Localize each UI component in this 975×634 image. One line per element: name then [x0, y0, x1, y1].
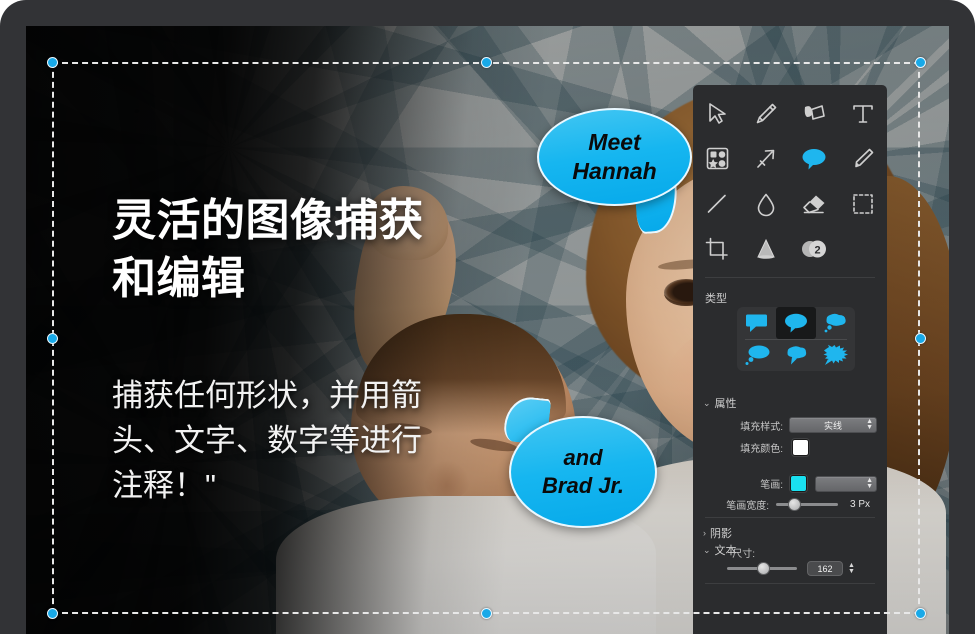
callout-hannah-line2: Hannah	[572, 157, 656, 186]
panel-divider-2	[705, 517, 875, 518]
pencil-icon	[753, 101, 779, 127]
bubble-type-cloud-dots[interactable]	[816, 307, 855, 339]
stroke-width-label: 笔画宽度:	[713, 497, 769, 512]
highlighter-tool[interactable]	[839, 136, 888, 181]
text-size-row: 尺寸: 162 ▲▼	[721, 561, 887, 576]
stroke-color-swatch[interactable]	[790, 475, 807, 492]
bubble-type-oval-dots[interactable]	[737, 339, 776, 371]
panel-divider-1	[705, 277, 875, 278]
cursor-arrow-icon	[706, 102, 728, 126]
properties-section-header[interactable]: ⌄ 属性	[703, 395, 737, 411]
cone-icon	[753, 236, 779, 262]
device-bezel: 灵活的图像捕获和编辑 捕获任何形状，并用箭头、文字、数字等进行注释！" Meet…	[0, 0, 975, 634]
crop-icon	[704, 236, 730, 262]
selection-handle-middle-right[interactable]	[915, 333, 926, 344]
step-number-2-icon: 2	[799, 237, 829, 261]
chevron-down-icon: ⌄	[703, 545, 711, 556]
dashed-rect-icon	[851, 192, 875, 216]
selection-handle-bottom-right[interactable]	[915, 608, 926, 619]
fill-color-row: 填充颜色:	[721, 439, 879, 456]
selection-handle-bottom-left[interactable]	[47, 608, 58, 619]
shadow-section-label: 阴影	[710, 525, 732, 541]
annotation-tool-panel[interactable]: 2 类型	[693, 85, 887, 634]
selection-handle-bottom-center[interactable]	[481, 608, 492, 619]
fill-style-value: 实线	[824, 419, 842, 432]
bubble-cloud-dots-icon	[821, 312, 849, 334]
step-number-badge: 2	[815, 244, 821, 256]
selection-handle-top-left[interactable]	[47, 57, 58, 68]
slider-knob[interactable]	[788, 498, 801, 511]
bubble-rect-tail-icon	[743, 312, 771, 334]
speech-bubble-icon	[800, 147, 828, 171]
chevron-right-icon: ›	[703, 528, 706, 538]
callout-bubble-hannah[interactable]: Meet Hannah	[537, 108, 692, 206]
stroke-row: 笔画: ▲▼	[721, 475, 879, 492]
fill-color-label: 填充颜色:	[721, 440, 783, 455]
bubble-type-oval-tail[interactable]	[776, 307, 815, 339]
stroke-width-slider[interactable]	[776, 498, 838, 512]
callout-brad-line2: Brad Jr.	[542, 472, 624, 500]
chevron-down-icon: ⌄	[703, 398, 711, 409]
slider-track	[776, 503, 838, 506]
crop-tool[interactable]	[693, 226, 742, 271]
arrow-up-right-icon	[753, 146, 779, 172]
selection-handle-top-center[interactable]	[481, 57, 492, 68]
tool-grid: 2	[693, 91, 887, 271]
text-size-label: 尺寸:	[721, 545, 755, 560]
bubble-burst-icon	[821, 344, 849, 366]
slide-body-text: 捕获任何形状，并用箭头、文字、数字等进行注释！"	[112, 374, 438, 509]
arrow-tool[interactable]	[742, 136, 791, 181]
bubble-oval-dots-icon	[743, 344, 771, 366]
stamp-tool[interactable]	[790, 91, 839, 136]
properties-section-label: 属性	[715, 395, 737, 411]
stepper-icon: ▲▼	[866, 478, 873, 490]
slide-headline: 灵活的图像捕获和编辑	[112, 192, 442, 308]
bubble-oval-tail-icon	[782, 312, 810, 334]
bubble-type-rect-tail[interactable]	[737, 307, 776, 339]
callout-tool[interactable]	[790, 136, 839, 181]
shadow-section-header[interactable]: › 阴影	[703, 525, 732, 541]
text-size-stepper[interactable]: ▲▼	[848, 563, 855, 575]
selection-handle-top-right[interactable]	[915, 57, 926, 68]
stepper-icon: ▲▼	[866, 419, 873, 431]
blur-tool[interactable]	[742, 181, 791, 226]
step-number-tool[interactable]: 2	[790, 226, 839, 271]
bubble-cloud-tail-icon	[782, 344, 810, 366]
text-t-icon	[850, 101, 876, 127]
bubble-type-burst[interactable]	[816, 339, 855, 371]
fill-color-swatch[interactable]	[792, 439, 809, 456]
eraser-tool[interactable]	[790, 181, 839, 226]
pencil-tool[interactable]	[742, 91, 791, 136]
stroke-width-row: 笔画宽度: 3 Px	[713, 497, 879, 512]
callout-brad-line1: and	[563, 444, 602, 472]
line-tool[interactable]	[693, 181, 742, 226]
callout-bubble-brad[interactable]: and Brad Jr.	[509, 416, 657, 528]
eraser-icon	[801, 192, 828, 216]
text-size-slider[interactable]	[727, 562, 797, 576]
text-tool[interactable]	[839, 91, 888, 136]
stroke-label: 笔画:	[745, 476, 783, 491]
shapes-tool[interactable]	[693, 136, 742, 181]
water-drop-icon	[754, 191, 778, 217]
line-icon	[704, 191, 730, 217]
stroke-line-style-select[interactable]: ▲▼	[815, 476, 877, 492]
shapes-grid-icon	[705, 146, 730, 171]
panel-divider-3	[705, 583, 875, 584]
selection-handle-middle-left[interactable]	[47, 333, 58, 344]
type-grid-divider	[745, 339, 847, 340]
type-section-label: 类型	[705, 290, 727, 306]
device-screen: 灵活的图像捕获和编辑 捕获任何形状，并用箭头、文字、数字等进行注释！" Meet…	[26, 26, 949, 634]
spotlight-tool[interactable]	[742, 226, 791, 271]
fill-style-row: 填充样式: 实线 ▲▼	[721, 417, 879, 433]
stamp-icon	[801, 102, 827, 126]
stroke-width-value: 3 Px	[850, 499, 870, 510]
select-arrow-tool[interactable]	[693, 91, 742, 136]
fill-style-select[interactable]: 实线 ▲▼	[789, 417, 877, 433]
callout-hannah-line1: Meet	[588, 128, 640, 157]
bubble-type-cloud-tail[interactable]	[776, 339, 815, 371]
slider-knob[interactable]	[757, 562, 770, 575]
marker-icon	[850, 146, 876, 172]
marquee-tool[interactable]	[839, 181, 888, 226]
fill-style-label: 填充样式:	[721, 418, 783, 433]
text-size-input[interactable]: 162	[807, 561, 843, 576]
